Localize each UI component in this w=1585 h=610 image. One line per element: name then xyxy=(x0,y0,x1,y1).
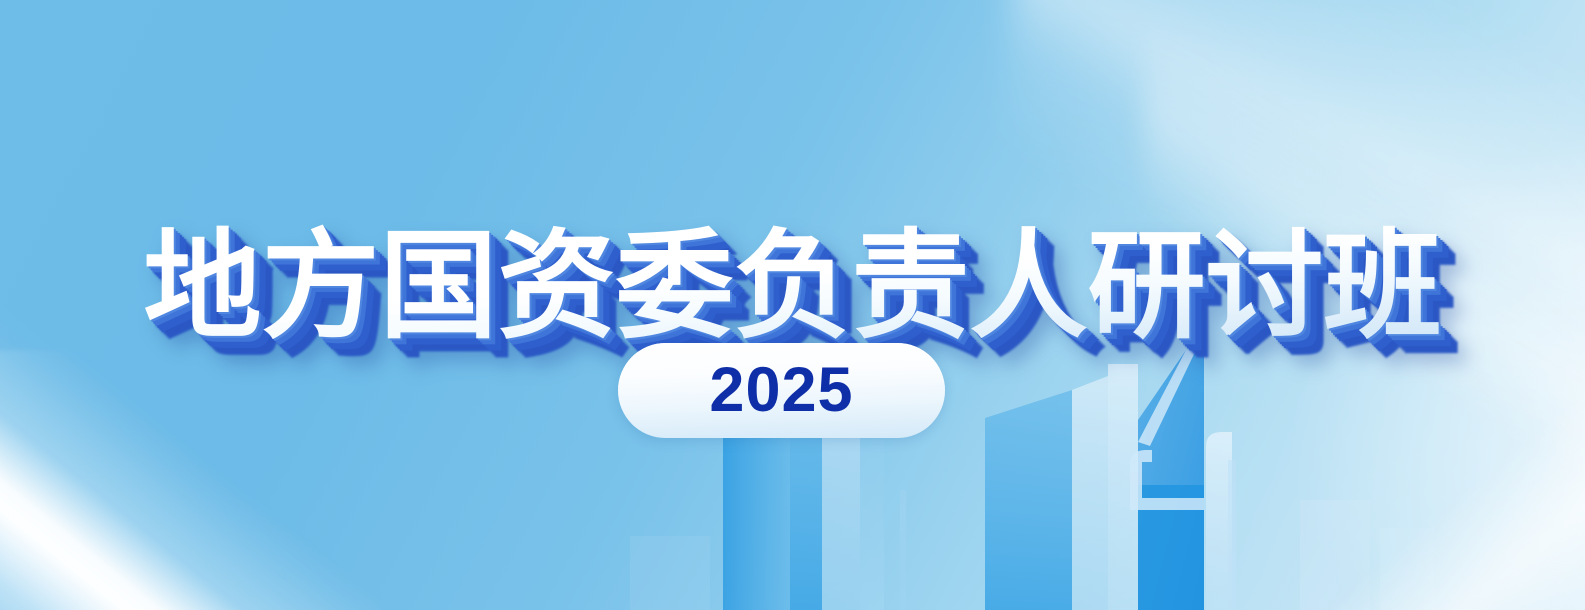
banner-root: 地方国资委负责人研讨班 2025 xyxy=(0,0,1585,610)
background-gradient xyxy=(0,0,1585,610)
year-badge: 2025 xyxy=(618,343,945,438)
year-badge-label: 2025 xyxy=(709,359,853,422)
